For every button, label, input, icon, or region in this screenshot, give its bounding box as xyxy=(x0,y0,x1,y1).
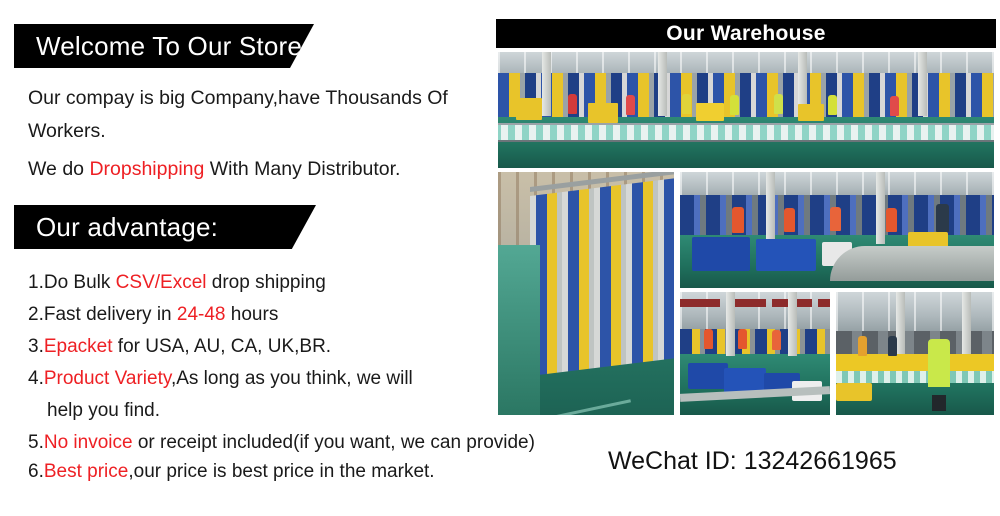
intro-line-3-before: We do xyxy=(28,158,89,180)
advantage-item-6: 6.Best price,our price is best price in … xyxy=(28,462,435,481)
warehouse-photo-panorama xyxy=(498,52,994,168)
intro-line-3: We do Dropshipping With Many Distributor… xyxy=(28,160,400,180)
advantage-item-5-number: 5. xyxy=(28,432,44,453)
advantage-item-6-highlight: Best price xyxy=(44,461,128,482)
advantage-item-2-highlight: 24-48 xyxy=(177,304,226,325)
intro-line-1: Our compay is big Company,have Thousands… xyxy=(28,89,448,109)
promo-banner-page: Welcome To Our Store Our compay is big C… xyxy=(0,0,1000,516)
advantage-item-1-number: 1. xyxy=(28,272,44,293)
advantage-item-1-after: drop shipping xyxy=(206,272,325,293)
advantage-item-3-highlight: Epacket xyxy=(44,336,113,357)
advantage-item-2: 2.Fast delivery in 24-48 hours xyxy=(28,305,278,324)
warehouse-photo-sorting xyxy=(680,172,994,288)
advantage-item-3: 3.Epacket for USA, AU, CA, UK,BR. xyxy=(28,337,331,356)
warehouse-photo-conveyor xyxy=(680,292,830,415)
intro-line-2: Workers. xyxy=(28,122,106,142)
welcome-banner-label: Welcome To Our Store xyxy=(14,31,302,62)
wechat-id-label: WeChat ID: 13242661965 xyxy=(608,447,897,476)
advantage-banner: Our advantage: xyxy=(14,205,316,249)
warehouse-photo-packing xyxy=(836,292,994,415)
advantage-item-6-after: ,our price is best price in the market. xyxy=(128,461,434,482)
right-warehouse-panel: Our Warehouse xyxy=(490,0,1000,516)
advantage-item-5: 5.No invoice or receipt included(if you … xyxy=(28,433,535,452)
advantage-item-2-after: hours xyxy=(226,304,279,325)
advantage-item-5-highlight: No invoice xyxy=(44,432,133,453)
advantage-item-1: 1.Do Bulk CSV/Excel drop shipping xyxy=(28,273,326,292)
advantage-item-2-number: 2. xyxy=(28,304,44,325)
advantage-item-2-before: Fast delivery in xyxy=(44,304,177,325)
welcome-banner: Welcome To Our Store xyxy=(14,24,314,68)
advantage-item-4-after: ,As long as you think, we will xyxy=(171,368,413,389)
advantage-item-5-after: or receipt included(if you want, we can … xyxy=(133,432,535,453)
advantage-item-4-continuation: help you find. xyxy=(47,401,160,420)
advantage-item-3-number: 3. xyxy=(28,336,44,357)
advantage-banner-label: Our advantage: xyxy=(14,212,218,243)
warehouse-photo-shelving xyxy=(498,172,674,415)
advantage-item-4-number: 4. xyxy=(28,368,44,389)
warehouse-banner-label: Our Warehouse xyxy=(666,22,825,46)
advantage-item-4-highlight: Product Variety xyxy=(44,368,171,389)
advantage-item-3-after: for USA, AU, CA, UK,BR. xyxy=(113,336,332,357)
advantage-item-1-before: Do Bulk xyxy=(44,272,116,293)
intro-line-3-highlight: Dropshipping xyxy=(89,158,204,180)
advantage-item-4: 4.Product Variety,As long as you think, … xyxy=(28,369,413,388)
left-text-panel: Welcome To Our Store Our compay is big C… xyxy=(0,0,500,516)
advantage-item-6-number: 6. xyxy=(28,461,44,482)
advantage-item-1-highlight: CSV/Excel xyxy=(116,272,207,293)
intro-line-3-after: With Many Distributor. xyxy=(204,158,400,180)
warehouse-banner: Our Warehouse xyxy=(496,19,996,48)
